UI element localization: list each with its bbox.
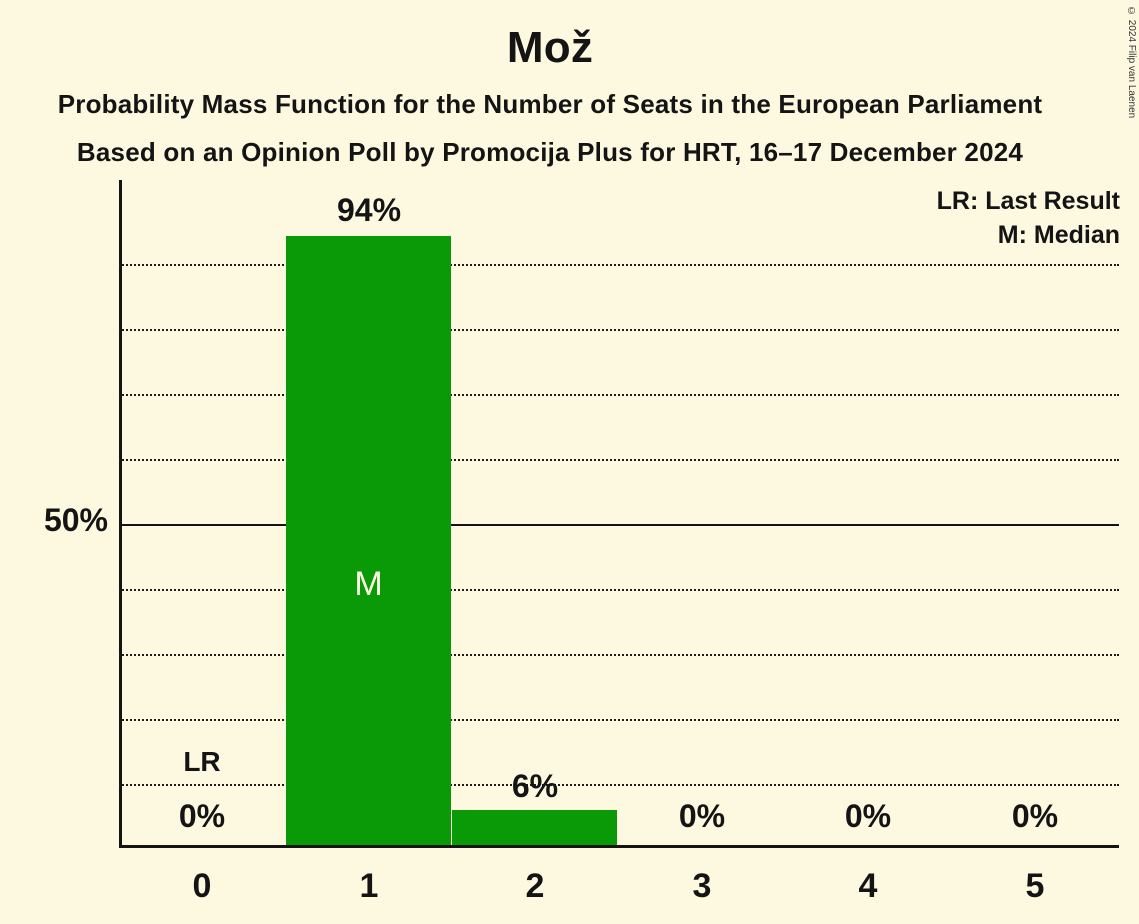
copyright-notice: © 2024 Filip van Laenen [1123, 6, 1137, 118]
bar-seats-1[interactable]: M [286, 236, 451, 845]
gridline-50 [119, 524, 1119, 526]
x-axis-tick-4: 4 [785, 866, 951, 906]
median-marker: M [286, 565, 451, 603]
gridline-70 [119, 394, 1119, 396]
gridline-20 [119, 719, 1119, 721]
last-result-marker: LR [119, 746, 285, 778]
chart-canvas: Mož Probability Mass Function for the Nu… [0, 0, 1139, 924]
x-axis-tick-5: 5 [952, 866, 1118, 906]
x-axis-tick-3: 3 [619, 866, 785, 906]
value-label-seats-1: 94% [286, 192, 452, 228]
gridline-60 [119, 459, 1119, 461]
value-label-seats-4: 0% [785, 798, 951, 834]
value-label-seats-2: 6% [452, 768, 618, 804]
gridline-10 [119, 784, 1119, 786]
y-axis-tick-label-50: 50% [0, 502, 108, 538]
plot-area: M 0% 94% 6% 0% 0% 0% LR [119, 180, 1119, 848]
chart-title: Mož [0, 22, 1100, 74]
x-axis-tick-2: 2 [452, 866, 618, 906]
x-axis-line [119, 845, 1119, 848]
value-label-seats-0: 0% [119, 798, 285, 834]
chart-subtitle-secondary: Based on an Opinion Poll by Promocija Pl… [0, 136, 1100, 168]
x-axis-tick-1: 1 [286, 866, 452, 906]
gridline-80 [119, 329, 1119, 331]
chart-subtitle-primary: Probability Mass Function for the Number… [0, 88, 1100, 120]
gridline-30 [119, 654, 1119, 656]
bar-seats-2[interactable] [452, 810, 617, 845]
x-axis-tick-0: 0 [119, 866, 285, 906]
gridline-40 [119, 589, 1119, 591]
gridline-90 [119, 264, 1119, 266]
value-label-seats-3: 0% [619, 798, 785, 834]
value-label-seats-5: 0% [952, 798, 1118, 834]
